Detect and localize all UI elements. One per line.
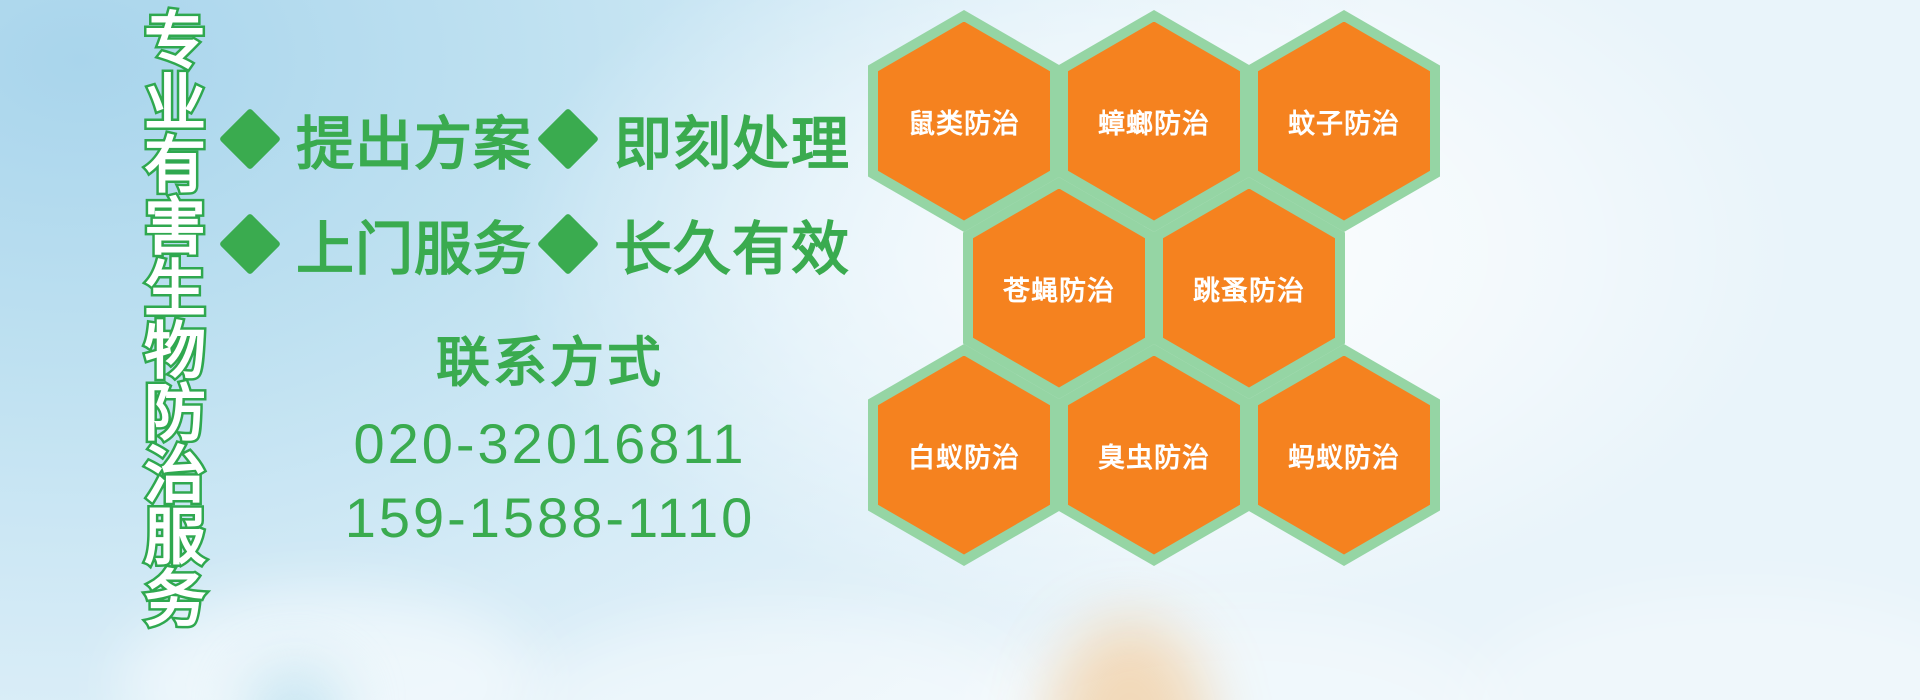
- diamond-icon: [219, 107, 281, 169]
- diamond-icon: [219, 212, 281, 274]
- contact-heading: 联系方式: [300, 318, 800, 397]
- service-label: 苍蝇防治: [1003, 269, 1115, 308]
- background-blur-blob: [980, 610, 1500, 700]
- background-blur-blob: [250, 670, 340, 700]
- service-label: 蚂蚁防治: [1288, 436, 1400, 475]
- hexagon-inner: 白蚁防治: [878, 356, 1050, 555]
- diamond-icon: [537, 212, 599, 274]
- vertical-headline: 专业有害生物防治服务: [104, 8, 200, 628]
- feature-label: 上门服务: [296, 202, 532, 286]
- feature-list: 提出方案 即刻处理 上门服务 长久有效: [228, 86, 868, 296]
- service-label: 臭虫防治: [1098, 436, 1210, 475]
- hexagon-inner: 蚂蚁防治: [1258, 356, 1430, 555]
- feature-row: 上门服务 长久有效: [228, 191, 868, 296]
- contact-block: 联系方式 020-32016811 159-1588-1110: [300, 318, 800, 556]
- phone-number-landline[interactable]: 020-32016811: [300, 407, 800, 481]
- service-label: 蚊子防治: [1288, 102, 1400, 141]
- service-label: 白蚁防治: [908, 436, 1020, 475]
- feature-label: 即刻处理: [614, 97, 850, 181]
- background-blur-blob: [1050, 620, 1210, 700]
- service-label: 蟑螂防治: [1098, 102, 1210, 141]
- diamond-icon: [537, 107, 599, 169]
- hexagon-inner: 苍蝇防治: [973, 189, 1145, 388]
- feature-label: 长久有效: [614, 202, 850, 286]
- hexagon-inner: 跳蚤防治: [1163, 189, 1335, 388]
- feature-label: 提出方案: [296, 97, 532, 181]
- hexagon-inner: 臭虫防治: [1068, 356, 1240, 555]
- hexagon-inner: 鼠类防治: [878, 22, 1050, 221]
- feature-item: 长久有效: [546, 202, 850, 286]
- hexagon-inner: 蚊子防治: [1258, 22, 1430, 221]
- background-blur-blob: [520, 610, 1040, 700]
- service-label: 鼠类防治: [908, 102, 1020, 141]
- feature-item: 提出方案: [228, 97, 546, 181]
- phone-number-mobile[interactable]: 159-1588-1110: [300, 481, 800, 555]
- hexagon-inner: 蟑螂防治: [1068, 22, 1240, 221]
- service-label: 跳蚤防治: [1193, 269, 1305, 308]
- pest-control-service-banner: 专业有害生物防治服务 提出方案 即刻处理 上门服务 长久有效 联系方式: [0, 0, 1920, 700]
- feature-item: 上门服务: [228, 202, 546, 286]
- feature-row: 提出方案 即刻处理: [228, 86, 868, 191]
- feature-item: 即刻处理: [546, 97, 850, 181]
- background-blur-blob: [1460, 590, 1920, 700]
- service-honeycomb: 鼠类防治 蟑螂防治 蚊子防治 苍蝇防治 跳蚤防治 白蚁防治: [862, 4, 1462, 574]
